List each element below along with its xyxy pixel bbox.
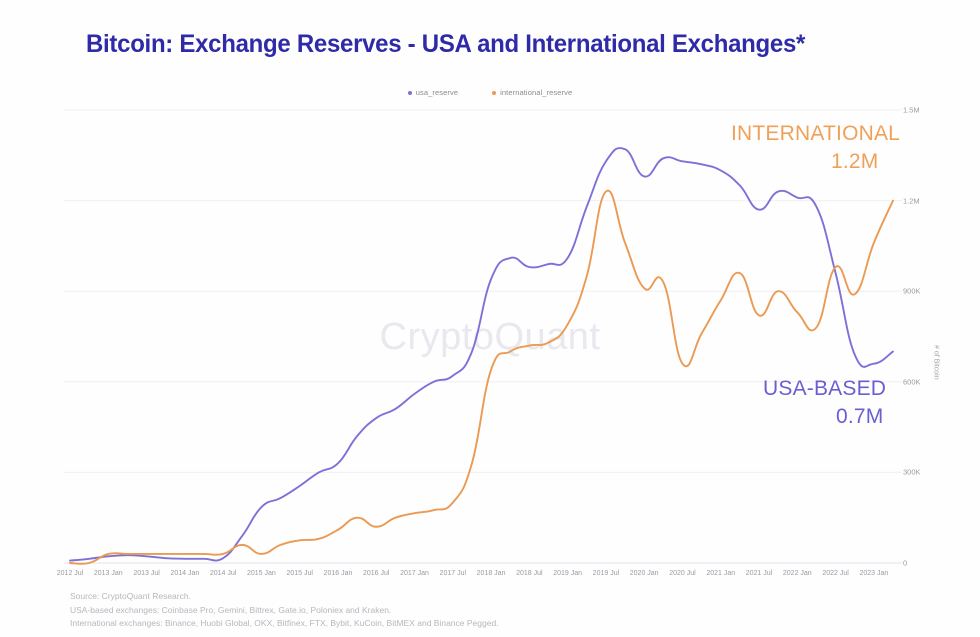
x-tick-label: 2014 Jul — [210, 570, 236, 577]
chart-legend: usa_reserve international_reserve — [0, 88, 980, 97]
chart-page: Bitcoin: Exchange Reserves - USA and Int… — [0, 0, 980, 637]
legend-label-international-reserve: international_reserve — [500, 88, 572, 97]
legend-swatch-usa-reserve — [408, 91, 412, 95]
x-tick-label: 2021 Jul — [746, 570, 772, 577]
y-tick-label: 1.2M — [903, 196, 920, 205]
footnote-usa-exchanges: USA-based exchanges: Coinbase Pro, Gemin… — [70, 604, 499, 618]
y-tick-label: 600K — [903, 377, 921, 386]
legend-item-usa-reserve[interactable]: usa_reserve — [408, 88, 458, 97]
x-tick-label: 2018 Jul — [516, 570, 542, 577]
x-tick-label: 2017 Jan — [400, 570, 429, 577]
footnotes: Source: CryptoQuant Research. USA-based … — [70, 590, 499, 631]
annotation-usa-label: USA-BASED — [763, 377, 886, 401]
y-tick-label: 300K — [903, 468, 921, 477]
legend-swatch-international-reserve — [492, 91, 496, 95]
legend-item-international-reserve[interactable]: international_reserve — [492, 88, 572, 97]
x-tick-label: 2019 Jan — [553, 570, 582, 577]
x-tick-label: 2018 Jan — [477, 570, 506, 577]
footnote-source: Source: CryptoQuant Research. — [70, 590, 499, 604]
x-tick-label: 2017 Jul — [440, 570, 466, 577]
footnote-international-exchanges: International exchanges: Binance, Huobi … — [70, 617, 499, 631]
x-tick-label: 2020 Jan — [630, 570, 659, 577]
x-tick-label: 2014 Jan — [170, 570, 199, 577]
x-tick-label: 2013 Jul — [133, 570, 159, 577]
x-tick-label: 2021 Jan — [706, 570, 735, 577]
x-tick-label: 2016 Jan — [324, 570, 353, 577]
x-tick-label: 2013 Jan — [94, 570, 123, 577]
annotation-international-label: INTERNATIONAL — [731, 122, 900, 146]
cryptoquant-watermark: CryptoQuant — [0, 316, 980, 359]
x-tick-label: 2022 Jul — [822, 570, 848, 577]
legend-label-usa-reserve: usa_reserve — [416, 88, 458, 97]
x-tick-label: 2022 Jan — [783, 570, 812, 577]
y-tick-label: 0 — [903, 559, 907, 568]
x-tick-label: 2016 Jul — [363, 570, 389, 577]
x-tick-label: 2023 Jan — [859, 570, 888, 577]
x-tick-label: 2020 Jul — [669, 570, 695, 577]
y-tick-label: 1.5M — [903, 106, 920, 115]
annotation-international-value: 1.2M — [831, 150, 879, 174]
x-tick-label: 2015 Jul — [286, 570, 312, 577]
x-tick-label: 2019 Jul — [593, 570, 619, 577]
x-tick-label: 2015 Jan — [247, 570, 276, 577]
y-axis-title: # of Bitcoin — [933, 345, 940, 380]
page-title: Bitcoin: Exchange Reserves - USA and Int… — [86, 30, 912, 59]
annotation-usa-value: 0.7M — [836, 405, 884, 429]
y-tick-label: 900K — [903, 287, 921, 296]
x-tick-label: 2012 Jul — [57, 570, 83, 577]
